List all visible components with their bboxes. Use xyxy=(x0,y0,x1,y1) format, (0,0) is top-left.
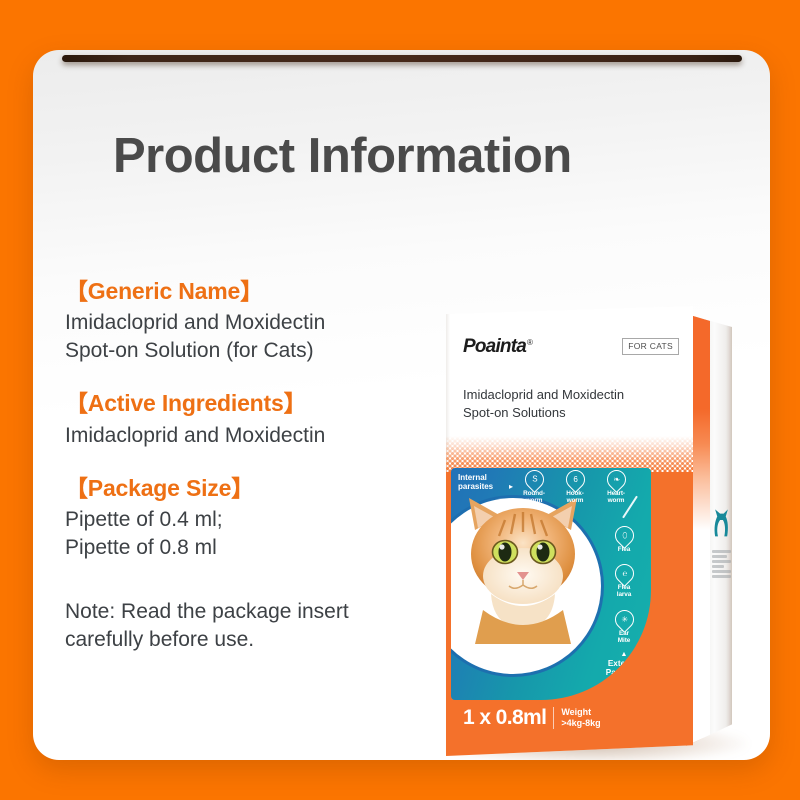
package-side-logo: Poainta xyxy=(690,654,748,684)
hookworm-glyph: 6 xyxy=(573,476,577,484)
package-side-fineprint xyxy=(712,550,731,598)
dosage-divider xyxy=(553,707,554,729)
product-info-list: 【Generic Name】 Imidacloprid and Moxidect… xyxy=(65,278,435,654)
cat-photo xyxy=(453,490,595,644)
card-accent-bar xyxy=(62,55,742,62)
page-title: Product Information xyxy=(113,128,572,184)
product-information-page: Product Information 【Generic Name】 Imida… xyxy=(0,0,800,800)
brand-trademark: ® xyxy=(527,338,532,347)
parasite-coverage-panel: Internal parasites ▸ S Round- worm 6 xyxy=(451,468,651,700)
package-size-line-2: Pipette of 0.8 ml xyxy=(65,534,435,562)
generic-name-line-2: Spot-on Solution (for Cats) xyxy=(65,337,435,365)
usage-note: Note: Read the package insert carefully … xyxy=(65,598,435,654)
roundworm-item: S Round- worm xyxy=(517,470,551,504)
internal-parasites-label-line-1: Internal xyxy=(458,473,510,482)
flea-icon: ⬯ xyxy=(611,522,638,549)
dosage-weight-label: Weight xyxy=(561,707,600,718)
flea-larva-glyph: ℮ xyxy=(622,570,627,578)
heartworm-glyph: ❧ xyxy=(613,476,620,484)
package-description: Imidacloprid and Moxidectin Spot-on Solu… xyxy=(463,386,678,423)
generic-name-line-1: Imidacloprid and Moxidectin xyxy=(65,309,435,337)
section-heading-generic-name: 【Generic Name】 xyxy=(65,278,435,304)
external-parasites-arrow-icon: ▲ xyxy=(601,651,647,658)
external-parasites-title-line-1: External xyxy=(601,659,647,669)
dosage-strip: 1 x 0.8ml Weight >4kg-8kg xyxy=(463,706,601,730)
hookworm-item: 6 Hook- worm xyxy=(558,470,592,504)
package-description-line-1: Imidacloprid and Moxidectin xyxy=(463,386,678,404)
info-section-generic-name: 【Generic Name】 Imidacloprid and Moxidect… xyxy=(65,278,435,365)
hookworm-caption-line-2: worm xyxy=(558,497,592,504)
ear-mite-item: ✳ Ear Mite xyxy=(601,610,647,644)
for-cats-badge: FOR CATS xyxy=(622,338,679,355)
cat-silhouette-icon xyxy=(713,507,730,543)
heartworm-caption-line-2: worm xyxy=(599,497,633,504)
package-front-face: Poainta® FOR CATS Imidacloprid and Moxid… xyxy=(445,306,693,756)
heartworm-item: ❧ Heart- worm xyxy=(599,470,633,504)
roundworm-glyph: S xyxy=(531,476,536,484)
info-section-package-size: 【Package Size】 Pipette of 0.4 ml; Pipett… xyxy=(65,475,435,562)
ear-mite-glyph: ✳ xyxy=(621,615,628,623)
usage-note-line-1: Note: Read the package insert xyxy=(65,598,435,626)
internal-parasites-label-line-2: parasites xyxy=(458,482,510,491)
external-parasite-icons: ⬯ Flea ℮ Flea larva ✳ Ear Mi xyxy=(601,526,647,678)
dosage-weight: Weight >4kg-8kg xyxy=(561,707,600,730)
flea-glyph: ⬯ xyxy=(621,532,626,540)
ear-mite-caption-line-2: Mite xyxy=(601,637,647,644)
active-ingredients-line-1: Imidacloprid and Moxidectin xyxy=(65,422,435,450)
external-parasites-title-line-2: Parasites xyxy=(601,668,647,678)
product-package-image: Poainta Poainta® FOR CATS Imidacloprid a… xyxy=(443,300,753,760)
brand-logo: Poainta® xyxy=(463,336,532,358)
flea-item: ⬯ Flea xyxy=(601,526,647,553)
internal-parasites-arrow-icon: ▸ xyxy=(509,482,513,491)
content-card: Product Information 【Generic Name】 Imida… xyxy=(33,50,770,760)
flea-larva-caption-line-2: larva xyxy=(601,591,647,598)
section-heading-active-ingredients: 【Active Ingredients】 xyxy=(65,390,435,416)
internal-parasite-icons: S Round- worm 6 Hook- worm ❧ xyxy=(517,470,633,504)
brand-logo-text: Poainta xyxy=(463,336,526,357)
internal-parasites-label: Internal parasites xyxy=(458,473,510,492)
usage-note-line-2: carefully before use. xyxy=(65,626,435,654)
dosage-weight-range: >4kg-8kg xyxy=(561,718,600,729)
info-section-active-ingredients: 【Active Ingredients】 Imidacloprid and Mo… xyxy=(65,390,435,449)
section-heading-package-size: 【Package Size】 xyxy=(65,475,435,501)
roundworm-caption-line-2: worm xyxy=(517,497,551,504)
dosage-amount: 1 x 0.8ml xyxy=(463,706,546,730)
package-description-line-2: Spot-on Solutions xyxy=(463,404,678,422)
ear-mite-icon: ✳ xyxy=(611,606,638,633)
flea-larva-icon: ℮ xyxy=(611,560,638,587)
package-size-line-1: Pipette of 0.4 ml; xyxy=(65,506,435,534)
flea-larva-item: ℮ Flea larva xyxy=(601,564,647,598)
